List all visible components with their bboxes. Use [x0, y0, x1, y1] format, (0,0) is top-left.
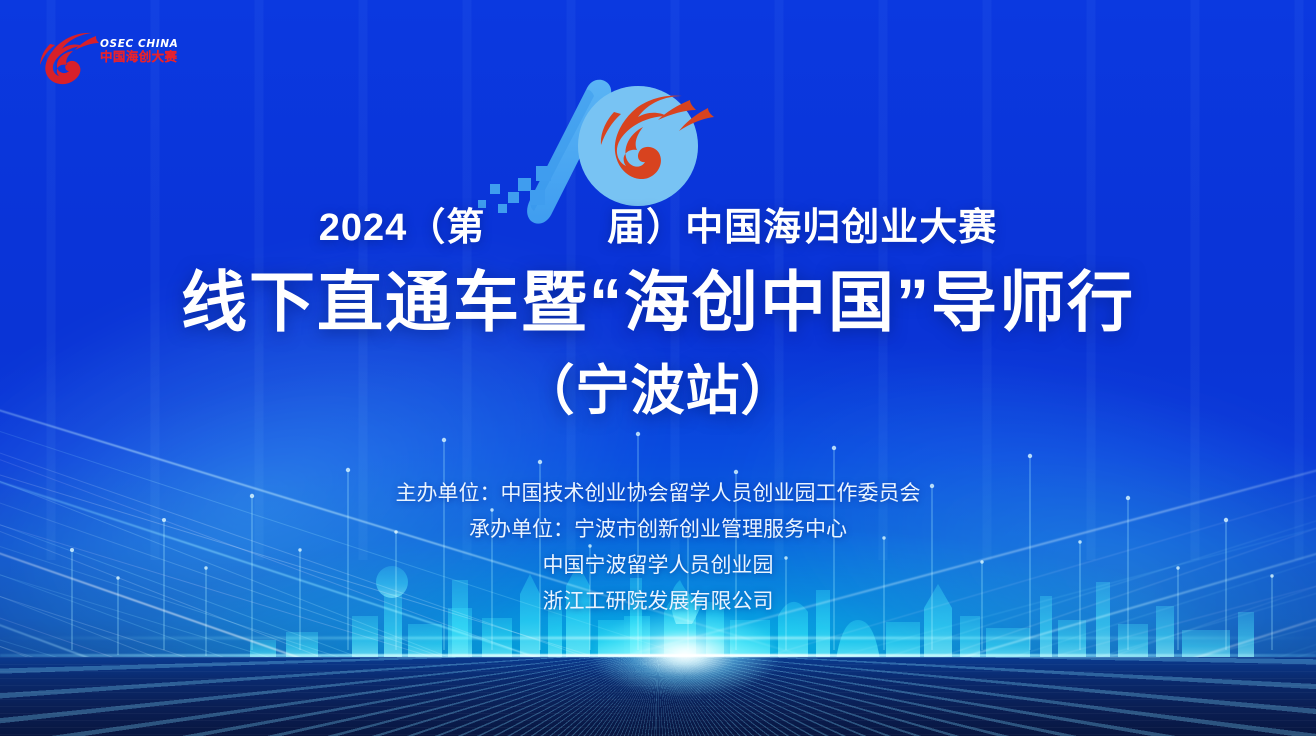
phoenix-flame-mark-icon — [34, 30, 106, 88]
logo-english-text: OSEC CHINA — [100, 38, 172, 50]
numeral-zero-disc — [578, 86, 698, 206]
event-poster: OSEC CHINA 中国海创大赛 — [0, 0, 1316, 736]
logo-wordmark: OSEC CHINA 中国海创大赛 — [100, 38, 172, 65]
organizer-line: 浙江工研院发展有限公司 — [0, 584, 1316, 620]
organizer-line: 承办单位：宁波市创新创业管理服务中心 — [0, 512, 1316, 548]
page-title: 线下直通车暨“海创中国”导师行 — [0, 266, 1316, 338]
organizer-list: 主办单位：中国技术创业协会留学人员创业园工作委员会 承办单位：宁波市创新创业管理… — [0, 476, 1316, 620]
year-edition-prefix: 2024（第 — [319, 207, 486, 249]
organizer-line: 主办单位：中国技术创业协会留学人员创业园工作委员会 — [0, 476, 1316, 512]
year-edition-line: 2024（第届）中国海归创业大赛 — [0, 196, 1316, 251]
page-subtitle: （宁波站） — [0, 360, 1316, 422]
logo-chinese-text: 中国海创大赛 — [100, 50, 172, 65]
organizer-line: 中国宁波留学人员创业园 — [0, 548, 1316, 584]
competition-logo[interactable]: OSEC CHINA 中国海创大赛 — [34, 30, 170, 88]
year-edition-suffix: 届）中国海归创业大赛 — [607, 207, 997, 249]
